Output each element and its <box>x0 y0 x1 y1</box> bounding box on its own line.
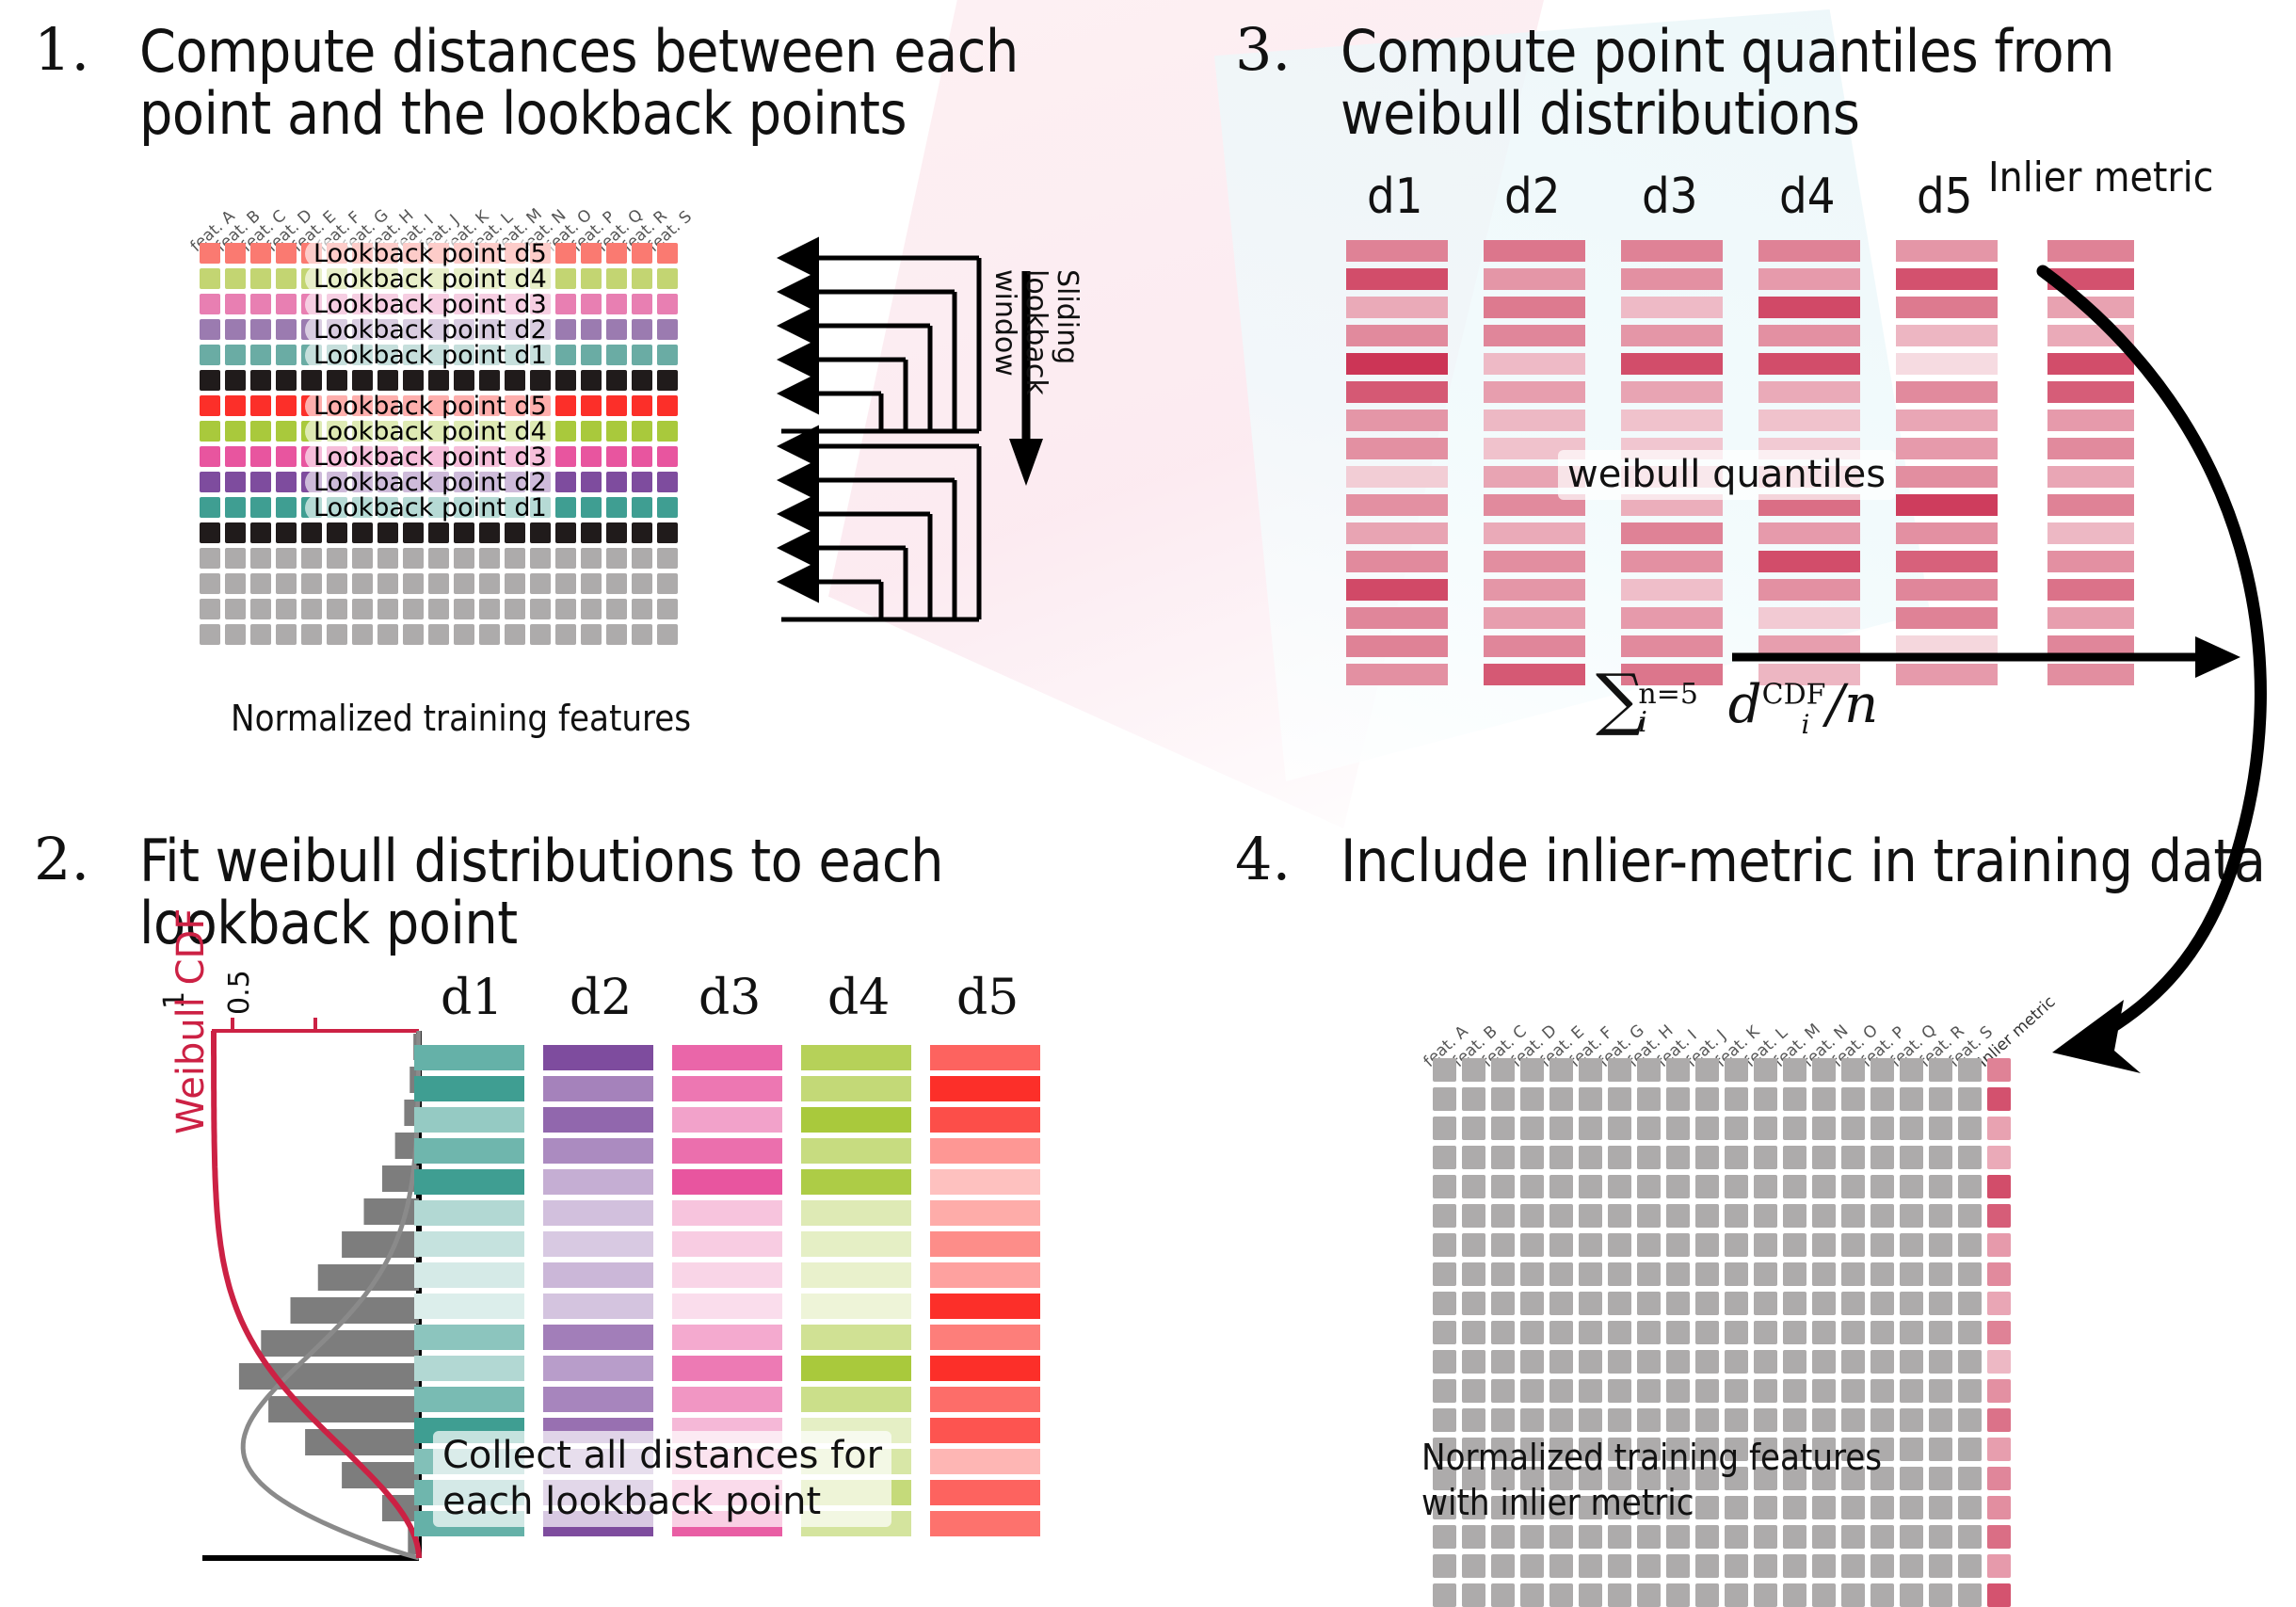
quantile-bar <box>1758 353 1860 375</box>
quantile-bar <box>1758 551 1860 572</box>
feature-cell <box>1549 1554 1573 1578</box>
feature-cell <box>1841 1087 1865 1111</box>
distance-bar <box>543 1045 653 1070</box>
quantile-bar <box>1346 607 1448 629</box>
feature-cell <box>1491 1321 1515 1344</box>
quantile-bar <box>1484 579 1585 601</box>
distance-bar <box>543 1387 653 1412</box>
feature-cell <box>1958 1496 1982 1519</box>
quantile-bar <box>1346 268 1448 290</box>
feature-cell <box>1520 1350 1544 1374</box>
feature-cell <box>581 472 602 492</box>
feature-cell <box>1958 1146 1982 1169</box>
feature-cell <box>1520 1087 1544 1111</box>
feature-cell <box>428 624 449 645</box>
feature-cell <box>530 599 551 619</box>
quantile-bar <box>1621 325 1723 346</box>
distance-bar <box>672 1262 782 1288</box>
feature-cell <box>1520 1379 1544 1403</box>
feature-cell <box>1491 1058 1515 1082</box>
quantile-bar <box>1346 410 1448 431</box>
step-2-title: Fit weibull distributions to each lookba… <box>139 830 1090 954</box>
quantile-bar <box>1346 297 1448 318</box>
inlier-metric-cell <box>1987 1204 2011 1228</box>
feature-cell <box>1841 1058 1865 1082</box>
feature-cell <box>1491 1379 1515 1403</box>
feature-cell <box>1695 1321 1719 1344</box>
feature-cell <box>352 624 373 645</box>
feature-cell <box>1549 1525 1573 1549</box>
panel2-column-label-d5: d5 <box>956 970 1019 1026</box>
feature-cell <box>657 522 678 543</box>
feature-cell <box>581 294 602 314</box>
feature-cell <box>276 243 297 264</box>
feature-cell <box>1871 1408 1894 1432</box>
feature-cell <box>1958 1233 1982 1257</box>
distance-bar <box>930 1356 1040 1381</box>
feature-cell <box>1608 1175 1631 1198</box>
feature-cell <box>301 548 322 569</box>
quantile-bar <box>1758 579 1860 601</box>
feature-cell <box>250 624 271 645</box>
lookback-point-label: Lookback point d2 <box>305 316 555 344</box>
feature-cell <box>1491 1087 1515 1111</box>
feature-cell <box>1929 1379 1952 1403</box>
feature-cell <box>1871 1321 1894 1344</box>
feature-cell <box>1871 1554 1894 1578</box>
feature-cell <box>250 573 271 594</box>
feature-cell <box>1871 1379 1894 1403</box>
feature-cell <box>1783 1292 1806 1315</box>
feature-cell <box>1812 1583 1836 1607</box>
feature-cell <box>606 268 627 289</box>
feature-cell <box>1812 1146 1836 1169</box>
feature-cell <box>1462 1554 1485 1578</box>
feature-cell <box>1841 1321 1865 1344</box>
feature-cell <box>505 522 525 543</box>
feature-cell <box>555 472 576 492</box>
feature-cell <box>1958 1525 1982 1549</box>
feature-cell <box>1491 1583 1515 1607</box>
feature-cell <box>1929 1350 1952 1374</box>
feature-cell <box>1637 1262 1661 1286</box>
feature-cell <box>1637 1204 1661 1228</box>
distance-bar <box>414 1325 524 1350</box>
feature-cell <box>1608 1379 1631 1403</box>
feature-cell <box>1725 1175 1748 1198</box>
quantile-bar <box>1484 664 1585 685</box>
feature-cell <box>1695 1204 1719 1228</box>
feature-cell <box>1579 1379 1602 1403</box>
distance-bar <box>930 1107 1040 1133</box>
feature-cell <box>403 624 424 645</box>
inlier-metric-cell <box>1987 1350 2011 1374</box>
feature-cell <box>200 243 220 264</box>
feature-cell <box>1725 1204 1748 1228</box>
feature-cell <box>657 599 678 619</box>
feature-cell <box>250 446 271 467</box>
feature-cell <box>327 548 347 569</box>
feature-cell <box>479 599 500 619</box>
quantile-bar <box>1758 410 1860 431</box>
feature-cell <box>1695 1408 1719 1432</box>
distance-bar <box>672 1294 782 1319</box>
feature-cell <box>327 522 347 543</box>
inlier-metric-cell <box>1987 1262 2011 1286</box>
quantile-bar <box>1896 438 1998 459</box>
feature-cell <box>479 548 500 569</box>
feature-cell <box>250 345 271 365</box>
feature-cell <box>657 294 678 314</box>
feature-cell <box>301 522 322 543</box>
distance-bar <box>672 1107 782 1133</box>
feature-cell <box>1579 1087 1602 1111</box>
inlier-metric-cell <box>1987 1525 2011 1549</box>
feature-cell <box>1579 1117 1602 1140</box>
feature-cell <box>1549 1204 1573 1228</box>
feature-cell <box>1637 1554 1661 1578</box>
quantile-bar <box>1621 551 1723 572</box>
feature-cell <box>1783 1058 1806 1082</box>
feature-cell <box>1695 1058 1719 1082</box>
feature-cell <box>581 522 602 543</box>
quantile-bar <box>1346 635 1448 657</box>
feature-cell <box>1900 1146 1923 1169</box>
feature-cell <box>581 599 602 619</box>
feature-cell <box>1637 1087 1661 1111</box>
lookback-point-label: Lookback point d4 <box>305 265 555 293</box>
feature-cell <box>606 294 627 314</box>
distance-bar <box>543 1231 653 1257</box>
inlier-metric-cell <box>1987 1379 2011 1403</box>
feature-cell <box>1433 1117 1456 1140</box>
feature-cell <box>1462 1321 1485 1344</box>
feature-cell <box>505 599 525 619</box>
quantile-bar <box>1896 381 1998 403</box>
feature-cell <box>403 370 424 391</box>
quantile-bar <box>1758 268 1860 290</box>
feature-cell <box>1520 1233 1544 1257</box>
feature-cell <box>1871 1146 1894 1169</box>
feature-cell <box>657 497 678 518</box>
feature-cell <box>555 446 576 467</box>
step-4-number: 4. <box>1235 830 1291 889</box>
feature-cell <box>1812 1175 1836 1198</box>
panel3-overlay-note: weibull quantiles <box>1558 450 1895 500</box>
feature-cell <box>1666 1262 1690 1286</box>
feature-cell <box>1929 1087 1952 1111</box>
panel-step-2: 2. Fit weibull distributions to each loo… <box>0 810 1148 1597</box>
feature-cell <box>1433 1233 1456 1257</box>
feature-cell <box>1958 1292 1982 1315</box>
panel3-inlier-label: Inlier metric <box>1988 153 2213 201</box>
feature-cell <box>505 573 525 594</box>
feature-cell <box>555 294 576 314</box>
feature-cell <box>377 573 398 594</box>
feature-cell <box>225 472 246 492</box>
feature-cell <box>428 573 449 594</box>
feature-cell <box>1812 1525 1836 1549</box>
feature-cell <box>1900 1087 1923 1111</box>
feature-cell <box>1958 1350 1982 1374</box>
feature-cell <box>1695 1087 1719 1111</box>
feature-cell <box>1637 1321 1661 1344</box>
feature-cell <box>1900 1496 1923 1519</box>
feature-cell <box>454 624 474 645</box>
feature-cell <box>1637 1583 1661 1607</box>
distance-bar <box>930 1231 1040 1257</box>
feature-cell <box>1754 1204 1777 1228</box>
feature-cell <box>276 268 297 289</box>
feature-cell <box>225 624 246 645</box>
feature-cell <box>1929 1146 1952 1169</box>
feature-cell <box>1520 1408 1544 1432</box>
quantile-bar <box>1896 325 1998 346</box>
quantile-bar <box>1484 607 1585 629</box>
distance-bar <box>543 1356 653 1381</box>
feature-cell <box>1871 1525 1894 1549</box>
quantile-bar <box>1758 297 1860 318</box>
feature-cell <box>1929 1525 1952 1549</box>
feature-cell <box>1725 1262 1748 1286</box>
feature-cell <box>327 624 347 645</box>
feature-cell <box>1929 1058 1952 1082</box>
feature-cell <box>1754 1350 1777 1374</box>
feature-cell <box>632 446 652 467</box>
feature-cell <box>200 548 220 569</box>
feature-cell <box>1549 1175 1573 1198</box>
inlier-metric-cell <box>1987 1408 2011 1432</box>
distance-bar <box>672 1356 782 1381</box>
feature-cell <box>250 599 271 619</box>
feature-cell <box>1695 1117 1719 1140</box>
feature-cell <box>1433 1525 1456 1549</box>
feature-cell <box>250 548 271 569</box>
feature-cell <box>454 522 474 543</box>
feature-cell <box>1579 1292 1602 1315</box>
feature-cell <box>1520 1583 1544 1607</box>
feature-cell <box>1958 1087 1982 1111</box>
feature-cell <box>454 548 474 569</box>
feature-cell <box>555 624 576 645</box>
distance-bar <box>801 1262 911 1288</box>
distance-bar <box>930 1294 1040 1319</box>
feature-cell <box>1579 1554 1602 1578</box>
formula-sub: i <box>1638 709 1698 737</box>
feature-cell <box>530 624 551 645</box>
feature-cell <box>555 548 576 569</box>
feature-cell <box>1433 1379 1456 1403</box>
distance-bar <box>801 1107 911 1133</box>
feature-cell <box>1900 1350 1923 1374</box>
feature-cell <box>632 599 652 619</box>
feature-cell <box>1841 1233 1865 1257</box>
feature-cell <box>1841 1117 1865 1140</box>
inlier-metric-cell <box>1987 1087 2011 1111</box>
distance-bar <box>414 1138 524 1164</box>
feature-cell <box>1754 1087 1777 1111</box>
feature-cell <box>1754 1321 1777 1344</box>
quantile-bar <box>1346 381 1448 403</box>
distance-bar <box>543 1200 653 1226</box>
distance-bar <box>930 1387 1040 1412</box>
panel3-column-label-d1: d1 <box>1367 169 1422 225</box>
feature-cell <box>1666 1554 1690 1578</box>
feature-cell <box>1608 1583 1631 1607</box>
quantile-bar <box>1896 297 1998 318</box>
distance-bar <box>930 1200 1040 1226</box>
quantile-bar <box>1896 466 1998 488</box>
feature-cell <box>1871 1058 1894 1082</box>
feature-cell <box>1725 1321 1748 1344</box>
distance-bar <box>930 1262 1040 1288</box>
feature-cell <box>1433 1175 1456 1198</box>
distance-bar <box>414 1387 524 1412</box>
panel2-column-label-d2: d2 <box>570 970 632 1026</box>
feature-cell <box>1871 1233 1894 1257</box>
feature-cell <box>1520 1204 1544 1228</box>
quantile-bar <box>1346 240 1448 262</box>
feature-cell <box>250 370 271 391</box>
feature-cell <box>657 243 678 264</box>
feature-cell <box>377 548 398 569</box>
distance-bar <box>543 1262 653 1288</box>
feature-cell <box>581 395 602 416</box>
feature-cell <box>1695 1583 1719 1607</box>
feature-cell <box>581 345 602 365</box>
distance-bar <box>930 1418 1040 1443</box>
inlier-metric-cell <box>1987 1496 2011 1519</box>
feature-cell <box>657 319 678 340</box>
distance-bar <box>801 1356 911 1381</box>
feature-cell <box>555 599 576 619</box>
feature-cell <box>377 599 398 619</box>
feature-cell <box>200 345 220 365</box>
quantile-bar <box>1758 607 1860 629</box>
feature-cell <box>1462 1146 1485 1169</box>
feature-cell <box>581 624 602 645</box>
inlier-metric-cell <box>1987 1233 2011 1257</box>
feature-cell <box>276 446 297 467</box>
step-1-number: 1. <box>34 21 89 79</box>
feature-cell <box>606 497 627 518</box>
feature-cell <box>1637 1233 1661 1257</box>
feature-cell <box>1491 1554 1515 1578</box>
feature-cell <box>1666 1350 1690 1374</box>
weibull-tick-05: 0.5 <box>223 970 256 1015</box>
feature-cell <box>1871 1583 1894 1607</box>
feature-cell <box>352 599 373 619</box>
distance-bar <box>543 1076 653 1101</box>
feature-cell <box>632 294 652 314</box>
panel1-caption: Normalized training features <box>231 697 691 742</box>
feature-cell <box>1579 1321 1602 1344</box>
feature-cell <box>1754 1379 1777 1403</box>
feature-cell <box>606 472 627 492</box>
feature-cell <box>657 370 678 391</box>
feature-cell <box>1608 1087 1631 1111</box>
feature-cell <box>276 472 297 492</box>
feature-cell <box>1637 1350 1661 1374</box>
feature-cell <box>581 497 602 518</box>
feature-cell <box>454 599 474 619</box>
distance-bar <box>414 1169 524 1195</box>
feature-cell <box>1783 1087 1806 1111</box>
quantile-bar <box>1484 522 1585 544</box>
panel3-column-label-d2: d2 <box>1504 169 1560 225</box>
feature-cell <box>606 573 627 594</box>
feature-cell <box>1871 1292 1894 1315</box>
feature-cell <box>581 319 602 340</box>
feature-cell <box>1725 1350 1748 1374</box>
feature-cell <box>1725 1292 1748 1315</box>
feature-cell <box>1637 1379 1661 1403</box>
feature-cell <box>1579 1525 1602 1549</box>
feature-cell <box>555 497 576 518</box>
feature-cell <box>1958 1175 1982 1198</box>
feature-cell <box>632 345 652 365</box>
feature-cell <box>1695 1350 1719 1374</box>
feature-cell <box>1433 1146 1456 1169</box>
feature-cell <box>479 370 500 391</box>
feature-cell <box>352 522 373 543</box>
quantile-bar <box>1346 466 1448 488</box>
panel3-column-label-d5: d5 <box>1917 169 1972 225</box>
feature-cell <box>581 573 602 594</box>
lookback-point-label: Lookback point d1 <box>305 342 555 369</box>
panel2-column-label-d4: d4 <box>827 970 890 1026</box>
feature-cell <box>1462 1233 1485 1257</box>
feature-cell <box>1491 1233 1515 1257</box>
feature-cell <box>1958 1262 1982 1286</box>
feature-cell <box>555 319 576 340</box>
feature-cell <box>530 522 551 543</box>
feature-cell <box>1958 1438 1982 1461</box>
feature-cell <box>1695 1146 1719 1169</box>
distance-bar <box>930 1449 1040 1474</box>
distance-bar <box>672 1200 782 1226</box>
distance-bar <box>672 1387 782 1412</box>
feature-cell <box>327 370 347 391</box>
feature-cell <box>1783 1117 1806 1140</box>
feature-cell <box>1754 1058 1777 1082</box>
feature-cell <box>1491 1117 1515 1140</box>
feature-cell <box>1900 1467 1923 1490</box>
feature-cell <box>657 472 678 492</box>
feature-cell <box>1900 1583 1923 1607</box>
feature-cell <box>530 548 551 569</box>
feature-cell <box>530 573 551 594</box>
feature-cell <box>1433 1408 1456 1432</box>
quantile-bar <box>1896 494 1998 516</box>
feature-cell <box>1549 1058 1573 1082</box>
feature-cell <box>1666 1233 1690 1257</box>
feature-cell <box>1520 1175 1544 1198</box>
distance-bar <box>930 1169 1040 1195</box>
feature-cell <box>1549 1292 1573 1315</box>
feature-cell <box>1841 1525 1865 1549</box>
formula-div: /n <box>1826 674 1878 735</box>
feature-cell <box>1666 1583 1690 1607</box>
distance-bar <box>801 1294 911 1319</box>
feature-cell <box>276 319 297 340</box>
feature-cell <box>606 624 627 645</box>
feature-cell <box>555 268 576 289</box>
feature-cell <box>606 548 627 569</box>
quantile-bar <box>1758 240 1860 262</box>
formula-sup: n=5 <box>1638 681 1698 709</box>
feature-cell <box>1608 1525 1631 1549</box>
